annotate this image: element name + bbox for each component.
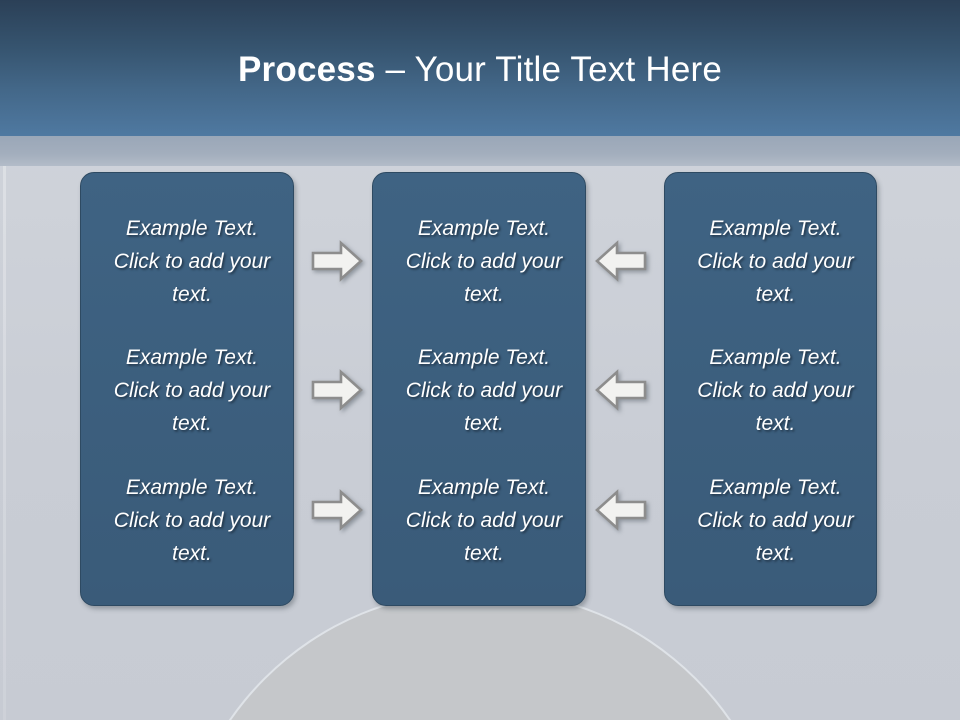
slide-header-underline-band <box>0 136 960 166</box>
process-text-block[interactable]: Example Text. Click to add your text. <box>387 471 571 570</box>
process-column-3[interactable]: Example Text. Click to add your text. Ex… <box>664 172 877 606</box>
process-column-2[interactable]: Example Text. Click to add your text. Ex… <box>372 172 586 606</box>
arrow-right-icon[interactable] <box>311 489 363 531</box>
arrow-left-icon[interactable] <box>595 369 647 411</box>
process-text-block[interactable]: Example Text. Click to add your text. <box>679 341 862 440</box>
arrow-right-icon[interactable] <box>311 369 363 411</box>
process-text-block[interactable]: Example Text. Click to add your text. <box>679 212 862 311</box>
slide-title-bold-part: Process <box>238 50 376 89</box>
slide-canvas: Process – Your Title Text Here Example T… <box>0 0 960 720</box>
process-column-1[interactable]: Example Text. Click to add your text. Ex… <box>80 172 294 606</box>
slide-title-separator: – <box>376 50 415 89</box>
slide-title: Process – Your Title Text Here <box>0 48 960 92</box>
process-text-block[interactable]: Example Text. Click to add your text. <box>387 341 571 440</box>
slide-title-regular-part: Your Title Text Here <box>415 50 723 89</box>
arrow-right-icon[interactable] <box>311 240 363 282</box>
process-text-block[interactable]: Example Text. Click to add your text. <box>95 341 279 440</box>
process-text-block[interactable]: Example Text. Click to add your text. <box>387 212 571 311</box>
process-text-block[interactable]: Example Text. Click to add your text. <box>95 471 279 570</box>
process-text-block[interactable]: Example Text. Click to add your text. <box>679 471 862 570</box>
background-left-stripe <box>3 136 6 720</box>
arrow-left-icon[interactable] <box>595 489 647 531</box>
process-text-block[interactable]: Example Text. Click to add your text. <box>95 212 279 311</box>
arrow-left-icon[interactable] <box>595 240 647 282</box>
